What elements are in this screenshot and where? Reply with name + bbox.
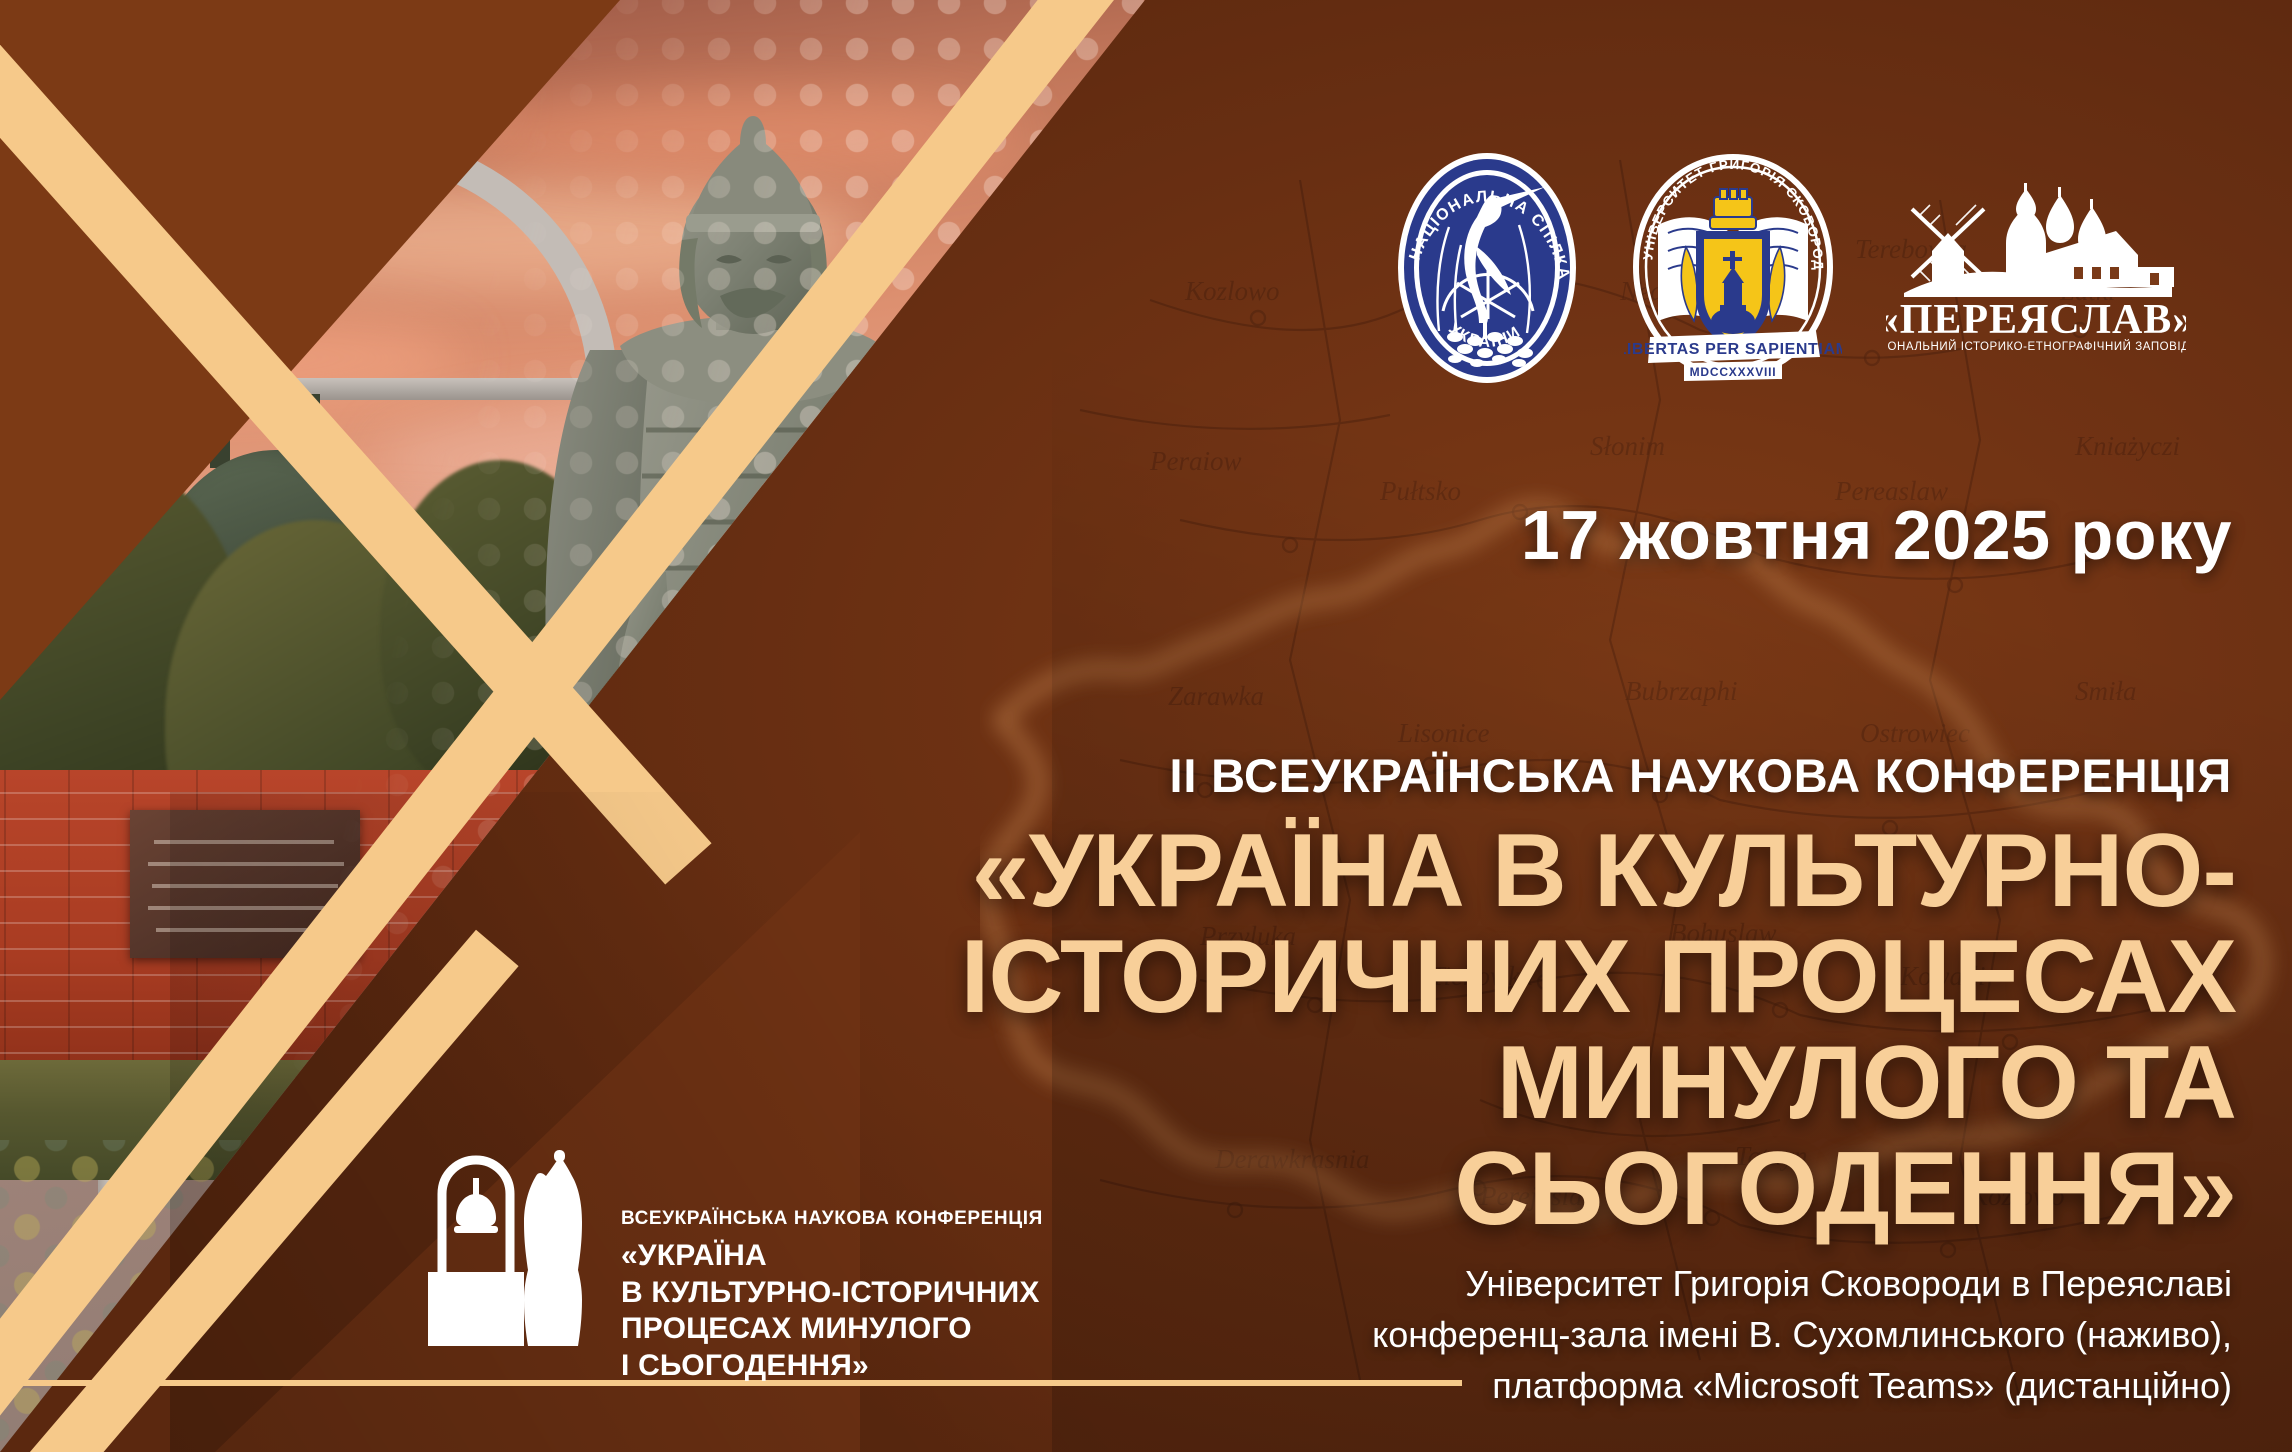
title-line-1: «УКРАЇНА В КУЛЬТУРНО- <box>876 818 2236 924</box>
venue-line-1: Університет Григорія Сковороди в Переясл… <box>1372 1258 2232 1309</box>
cm-title-line-1: «УКРАЇНА <box>621 1238 1043 1275</box>
venue-line-2: конференц-зала імені В. Сухомлинського (… <box>1372 1309 2232 1360</box>
university-logo: УНІВЕРСИТЕТ ГРИГОРІЯ СКОВОРОДИ В ПЕРЕЯСЛ… <box>1624 151 1842 386</box>
open-book-coat-of-arms-icon: УНІВЕРСИТЕТ ГРИГОРІЯ СКОВОРОДИ В ПЕРЕЯСЛ… <box>1624 151 1842 386</box>
pereyaslav-logo: «ПЕРЕЯСЛАВ» НАЦІОНАЛЬНИЙ ІСТОРИКО-ЕТНОГР… <box>1886 181 2186 356</box>
windmill-and-church-icon: «ПЕРЕЯСЛАВ» НАЦІОНАЛЬНИЙ ІСТОРИКО-ЕТНОГР… <box>1886 181 2186 356</box>
university-motto: LIBERTAS PER SAPIENTIAM <box>1624 341 1842 358</box>
conference-mark-title: «УКРАЇНА В КУЛЬТУРНО-ІСТОРИЧНИХ ПРОЦЕСАХ… <box>621 1238 1043 1384</box>
partner-logos: НАЦІОНАЛЬНА СПІЛКА КРАЄЗНАВЦІВ УКРАЇНИ <box>1395 148 2195 388</box>
conference-date: 17 жовтня 2025 року <box>1521 495 2232 575</box>
conference-mark: ВСЕУКРАЇНСЬКА НАУКОВА КОНФЕРЕНЦІЯ «УКРАЇ… <box>420 1150 1043 1384</box>
conference-mark-kicker: ВСЕУКРАЇНСЬКА НАУКОВА КОНФЕРЕНЦІЯ <box>621 1208 1043 1230</box>
cm-title-line-4: І СЬОГОДЕННЯ» <box>621 1348 1043 1385</box>
nsku-logo: НАЦІОНАЛЬНА СПІЛКА КРАЄЗНАВЦІВ УКРАЇНИ <box>1395 151 1580 386</box>
university-founded-year: MDCCXXXVIII <box>1690 365 1777 379</box>
stork-emblem-icon: НАЦІОНАЛЬНА СПІЛКА КРАЄЗНАВЦІВ УКРАЇНИ <box>1395 151 1580 386</box>
title-line-3: МИНУЛОГО ТА СЬОГОДЕННЯ» <box>876 1030 2236 1242</box>
venue-line-3: платформа «Microsoft Teams» (дистанційно… <box>1372 1360 2232 1411</box>
cm-title-line-2: В КУЛЬТУРНО-ІСТОРИЧНИХ <box>621 1275 1043 1312</box>
cm-title-line-3: ПРОЦЕСАХ МИНУЛОГО <box>621 1311 1043 1348</box>
conference-kicker: ІІ ВСЕУКРАЇНСЬКА НАУКОВА КОНФЕРЕНЦІЯ <box>1170 748 2232 803</box>
bell-and-statue-icon <box>420 1150 595 1355</box>
conference-venue: Університет Григорія Сковороди в Переясл… <box>1372 1258 2232 1411</box>
title-line-2: ІСТОРИЧНИХ ПРОЦЕСАХ <box>876 924 2236 1030</box>
conference-poster: Kozlowo Hołubiwka Nedryhajliw Terebowla … <box>0 0 2292 1452</box>
pereyaslav-subtitle: НАЦІОНАЛЬНИЙ ІСТОРИКО-ЕТНОГРАФІЧНИЙ ЗАПО… <box>1886 340 2186 353</box>
conference-mark-text: ВСЕУКРАЇНСЬКА НАУКОВА КОНФЕРЕНЦІЯ «УКРАЇ… <box>621 1150 1043 1384</box>
conference-title: «УКРАЇНА В КУЛЬТУРНО- ІСТОРИЧНИХ ПРОЦЕСА… <box>876 818 2236 1242</box>
pereyaslav-wordmark: «ПЕРЕЯСЛАВ» <box>1886 297 2186 343</box>
